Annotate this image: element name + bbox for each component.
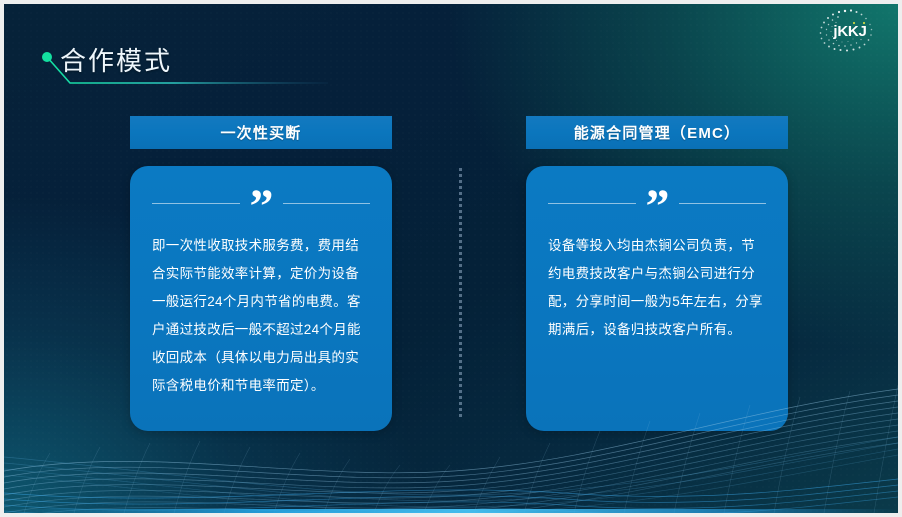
divider-right xyxy=(283,203,371,204)
card-header-one: 一次性买断 xyxy=(130,116,392,149)
card-header-two: 能源合同管理（EMC） xyxy=(526,116,788,149)
quote-divider-row: ” xyxy=(152,186,370,220)
divider-left xyxy=(548,203,636,204)
card-text-two: 设备等投入均由杰锏公司负责，节约电费技改客户与杰锏公司进行分配，分享时间一般为5… xyxy=(548,232,766,344)
slide-canvas: jKKJ 合作模式 一次性买断 ” xyxy=(4,4,898,513)
jkkj-logo: jKKJ xyxy=(808,6,888,56)
bottom-glow-line xyxy=(4,509,898,513)
quote-divider-row: ” xyxy=(548,186,766,220)
title-decoration xyxy=(40,50,330,90)
logo-wordmark: jKKJ xyxy=(832,23,866,40)
wave-mesh-decoration xyxy=(4,353,898,513)
page-title: 合作模式 xyxy=(40,44,172,78)
divider-left xyxy=(152,203,240,204)
divider-right xyxy=(679,203,767,204)
